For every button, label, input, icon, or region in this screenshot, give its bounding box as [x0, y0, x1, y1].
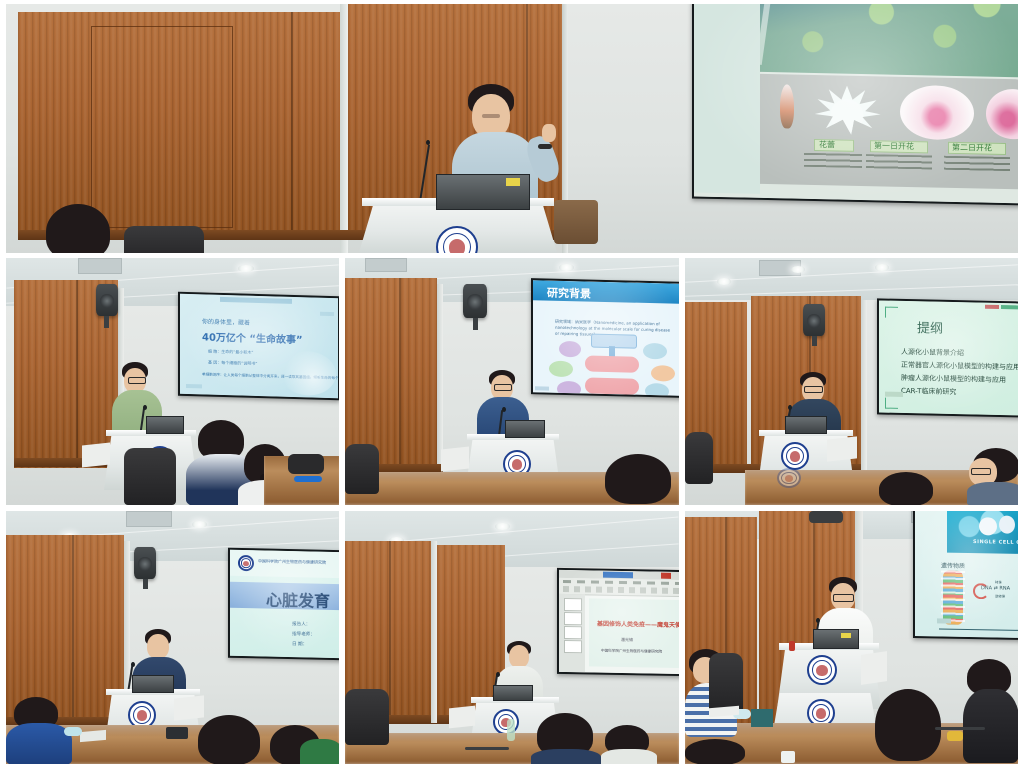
projection-screen-r2c3: 提纲 人源化小鼠背景介绍 正常器官人源化小鼠模型的构建与应用 肿瘤人源化小鼠模型…: [877, 298, 1018, 417]
projection-screen-r3c2: 基因修饰人类免疫——魔鬼天使 潘光锦 中国科学院广州生物医药与健康研究院: [557, 568, 679, 676]
laptop-r2c1[interactable]: [146, 416, 184, 434]
slide-pond-photo: [760, 4, 1018, 77]
face-mask: [64, 727, 82, 736]
laptop-r2c3[interactable]: [785, 416, 827, 434]
slide-field-2: 日 期：: [292, 641, 307, 647]
presenter-glasses-r3c3: [833, 594, 854, 602]
stage-label-1: 第一日开花: [870, 140, 928, 153]
ppt-canvas: [589, 598, 679, 668]
wall-speaker-r3c1: [134, 547, 156, 579]
flower-day2: [900, 85, 974, 141]
slide-life-stories: 你的身体里，藏着 40万亿个 “生命故事” 细 胞：生命的“最小积木” 基 因：…: [180, 294, 338, 398]
slide-title-r3c2: 基因修饰人类免疫——魔鬼天使: [597, 619, 679, 629]
slide-outline: 提纲 人源化小鼠背景介绍 正常器官人源化小鼠模型的构建与应用 肿瘤人源化小鼠模型…: [879, 300, 1018, 415]
cable-r3c3: [935, 727, 985, 730]
slide-title-r2c2: 研究背景: [547, 285, 591, 302]
photo-panel-r2c3[interactable]: 提纲 人源化小鼠背景介绍 正常器官人源化小鼠模型的构建与应用 肿瘤人源化小鼠模型…: [685, 258, 1018, 505]
formula-text: DNA ⇄ RNA: [981, 585, 1010, 592]
photo-panel-r3c1[interactable]: 中国科学院广州生物医药与健康研究院 心脏发育 报告人： 指导老师： 日 期：: [6, 511, 339, 764]
stage-label-0-text: 花蕾: [819, 139, 835, 150]
phone[interactable]: [166, 727, 188, 739]
chair-top: [124, 226, 204, 253]
laptop-r3c3[interactable]: [813, 629, 859, 649]
audience-top-1: [36, 204, 126, 253]
slide-powerpoint-window: 基因修饰人类免疫——魔鬼天使 潘光锦 中国科学院广州生物医药与健康研究院: [559, 570, 679, 674]
podium-emblem-r3c2: [493, 709, 519, 735]
formula-label-1: 逆转录: [995, 593, 1005, 598]
audience-r3c2-2: [601, 725, 659, 764]
stage-label-0: 花蕾: [814, 139, 854, 152]
audience-r3c1-3: [270, 725, 339, 764]
slide-bullet-r2c3-2: 肿瘤人源化小鼠模型的构建与应用: [901, 373, 1006, 385]
water-bottle[interactable]: [507, 719, 515, 741]
laptop-r3c1[interactable]: [132, 675, 174, 693]
chair-r3c2: [345, 689, 389, 745]
projection-screen-top: 花蕾 第一日开花 第二日开花: [692, 4, 1018, 206]
slide-stage-panel: [760, 74, 1018, 190]
audience-r2c3-2: [967, 448, 1018, 505]
slide-section-label-r3c3: 遗传物质: [941, 560, 965, 569]
photo-collage: 花蕾 第一日开花 第二日开花: [0, 0, 1024, 768]
slide-water-lily: 花蕾 第一日开花 第二日开花: [694, 4, 1018, 204]
projection-screen-r2c1: 你的身体里，藏着 40万亿个 “生命故事” 细 胞：生命的“最小积木” 基 因：…: [178, 292, 339, 401]
chair-r2c3: [685, 432, 713, 484]
slide-genetic-material: SINGLE CELL GENOMICS 遗传物质 DNA ⇄ RNA 转录 逆…: [915, 511, 1018, 638]
ceiling-projector: [809, 511, 843, 523]
equipment-bag: [288, 454, 324, 474]
projection-screen-r2c2: 研究背景 研究领域：纳米医学（Nanomedicine, an applicat…: [531, 278, 679, 398]
photo-panel-r3c2[interactable]: 基因修饰人类免疫——魔鬼天使 潘光锦 中国科学院广州生物医药与健康研究院: [345, 511, 679, 764]
folder-r3c3: [751, 709, 773, 727]
podium-emblem-r2c3: [781, 442, 809, 470]
slide-author-r3c2: 潘光锦: [621, 637, 633, 643]
slide-heart-development: 中国科学院广州生物医药与健康研究院 心脏发育 报告人： 指导老师： 日 期：: [230, 550, 339, 658]
chair-r2c2: [345, 444, 379, 494]
formula-label-0: 转录: [995, 579, 1002, 584]
slide-field-0: 报告人：: [292, 621, 310, 627]
flower-bud: [780, 84, 794, 128]
slide-field-1: 指导老师：: [292, 631, 315, 637]
audience-r3c1-2: [194, 715, 272, 764]
chair-r2c1: [124, 448, 176, 505]
handheld-mic[interactable]: [294, 476, 322, 482]
podium-emblem-r3c3: [807, 655, 837, 685]
audience-r2c3-1: [875, 472, 943, 505]
photo-panel-r2c1[interactable]: 你的身体里，藏着 40万亿个 “生命故事” 细 胞：生命的“最小积木” 基 因：…: [6, 258, 339, 505]
projection-screen-r3c3: SINGLE CELL GENOMICS 遗传物质 DNA ⇄ RNA 转录 逆…: [913, 511, 1018, 640]
slide-title-r2c3: 提纲: [917, 317, 943, 337]
audience-r2c2-1: [599, 454, 679, 505]
photo-panel-r2c2[interactable]: 研究背景 研究领域：纳米医学（Nanomedicine, an applicat…: [345, 258, 679, 505]
slide-bullet-1: 基 因：每个细胞的“说明书”: [208, 360, 257, 367]
stage-label-1-text: 第一日开花: [874, 140, 914, 152]
slide-bullet-0: 细 胞：生命的“最小积木”: [208, 349, 253, 356]
audience-r3c2-1: [531, 713, 603, 764]
wall-speaker-r2c1: [96, 284, 118, 316]
wall-door-outline: [91, 26, 233, 228]
photo-panel-r3c3[interactable]: SINGLE CELL GENOMICS 遗传物质 DNA ⇄ RNA 转录 逆…: [685, 511, 1018, 764]
slide-affiliation-r3c2: 中国科学院广州生物医药与健康研究院: [601, 649, 662, 655]
slide-headline: 40万亿个 “生命故事”: [202, 328, 303, 346]
wall-speaker-r2c3: [803, 304, 825, 336]
stage-label-2-text: 第二日开花: [952, 142, 992, 154]
projection-screen-r3c1: 中国科学院广州生物医药与健康研究院 心脏发育 报告人： 指导老师： 日 期：: [228, 548, 339, 661]
drink-cup[interactable]: [789, 641, 795, 651]
slide-title-r3c1: 心脏发育: [266, 587, 330, 612]
slide-bullet-r2c3-0: 人源化小鼠背景介绍: [901, 347, 964, 358]
slide-bullet-r2c3-3: CAR-T临床前研究: [901, 386, 956, 397]
water-cup-r3c3[interactable]: [781, 751, 795, 763]
stage-label-2: 第二日开花: [948, 142, 1006, 155]
cable: [465, 747, 509, 750]
laptop-r2c2[interactable]: [505, 420, 545, 438]
photo-panel-top-wide[interactable]: 花蕾 第一日开花 第二日开花: [6, 4, 1018, 253]
laptop-r3c2[interactable]: [493, 685, 533, 701]
presenter-glasses-r2c3: [804, 386, 823, 393]
wall-speaker-r2c2: [463, 284, 487, 318]
slide-bullet-r2c3-1: 正常器官人源化小鼠模型的构建与应用: [901, 360, 1018, 372]
slide-line1: 你的身体里，藏着: [202, 316, 250, 326]
slide-research-background: 研究背景 研究领域：纳米医学（Nanomedicine, an applicat…: [533, 280, 679, 396]
yellow-item: [947, 731, 963, 741]
audience-r3c3-3: [963, 659, 1018, 764]
audience-r3c3-4: [685, 739, 755, 764]
